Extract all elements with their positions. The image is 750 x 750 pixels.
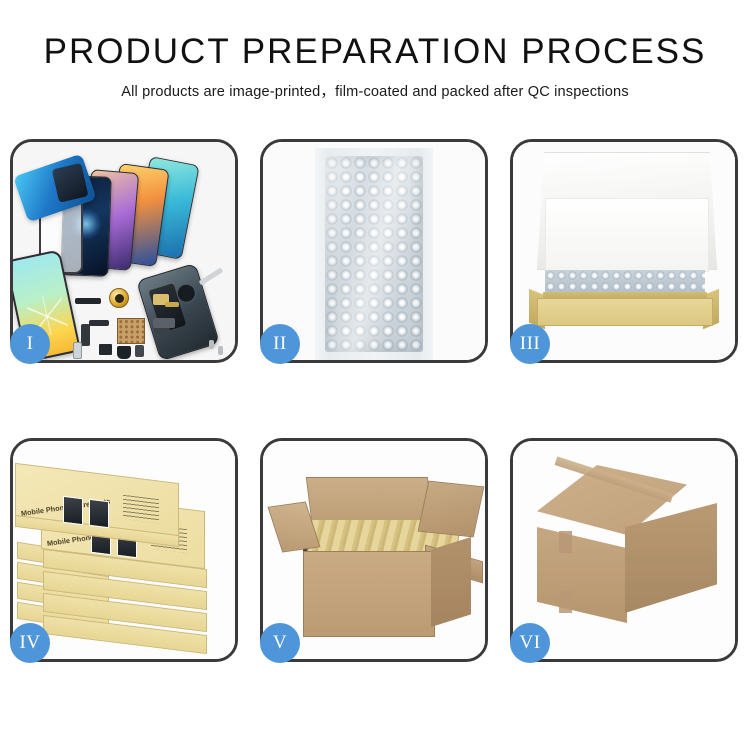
- spare-part: [135, 345, 144, 357]
- spare-part: [154, 328, 170, 333]
- step-panel-6: VI: [510, 438, 738, 662]
- step-6-image: [513, 441, 735, 659]
- step-panel-2: II: [260, 139, 488, 363]
- spare-part: [73, 342, 82, 359]
- gold-coil-part: [109, 288, 129, 308]
- page-subtitle: All products are image-printed，film-coat…: [0, 80, 750, 101]
- screw-part: [218, 346, 223, 355]
- stacked-boxes-scene: Mobile Phone Spare Parts Mobile Phone Sp…: [13, 441, 235, 659]
- step-badge-1: I: [10, 324, 50, 364]
- carton-front-face: [537, 527, 627, 623]
- spare-part: [89, 320, 109, 326]
- step-badge-5: V: [260, 623, 300, 663]
- box-screen-graphic: [63, 496, 83, 525]
- white-foam-pad: [545, 198, 709, 272]
- spare-part: [165, 302, 179, 307]
- tweezers-tool: [199, 267, 224, 285]
- plastic-sheen: [325, 156, 423, 352]
- phone-parts-scene: [13, 142, 235, 360]
- foam-inner-box-scene: [513, 142, 735, 360]
- step-badge-6: VI: [510, 623, 550, 663]
- step-2-image: [263, 142, 485, 360]
- spare-part: [99, 344, 112, 355]
- carton-right-flap: [418, 481, 485, 538]
- process-steps-grid: I II: [10, 139, 740, 662]
- packing-tape-front-upper: [559, 531, 572, 553]
- open-carton-scene: [263, 441, 485, 659]
- step-panel-3: III: [510, 139, 738, 363]
- step-panel-5: V: [260, 438, 488, 662]
- spare-part: [75, 298, 101, 304]
- screw-part: [209, 340, 214, 349]
- step-panel-4: Mobile Phone Spare Parts Mobile Phone Sp…: [10, 438, 238, 662]
- box-screen-graphic: [89, 499, 109, 528]
- step-4-image: Mobile Phone Spare Parts Mobile Phone Sp…: [13, 441, 235, 659]
- box-front-wall: [537, 298, 713, 326]
- carton-side-face: [431, 537, 471, 627]
- header: PRODUCT PREPARATION PROCESS All products…: [0, 0, 750, 101]
- box-spec-text-lines: [123, 495, 159, 523]
- chip-grid-part: [117, 318, 145, 344]
- spare-part: [117, 346, 131, 359]
- carton-front-face: [303, 551, 435, 637]
- step-panel-1: I: [10, 139, 238, 363]
- step-5-image: [263, 441, 485, 659]
- bubble-wrap-scene: [263, 142, 485, 360]
- sealed-carton-scene: [513, 441, 735, 659]
- product-preparation-infographic: PRODUCT PREPARATION PROCESS All products…: [0, 0, 750, 750]
- spare-part: [153, 318, 175, 328]
- step-1-image: [13, 142, 235, 360]
- spare-part: [81, 324, 90, 346]
- step-badge-3: III: [510, 324, 550, 364]
- packing-tape-front-lower: [559, 591, 572, 613]
- step-badge-2: II: [260, 324, 300, 364]
- page-title: PRODUCT PREPARATION PROCESS: [0, 34, 750, 71]
- step-3-image: [513, 142, 735, 360]
- step-badge-4: IV: [10, 623, 50, 663]
